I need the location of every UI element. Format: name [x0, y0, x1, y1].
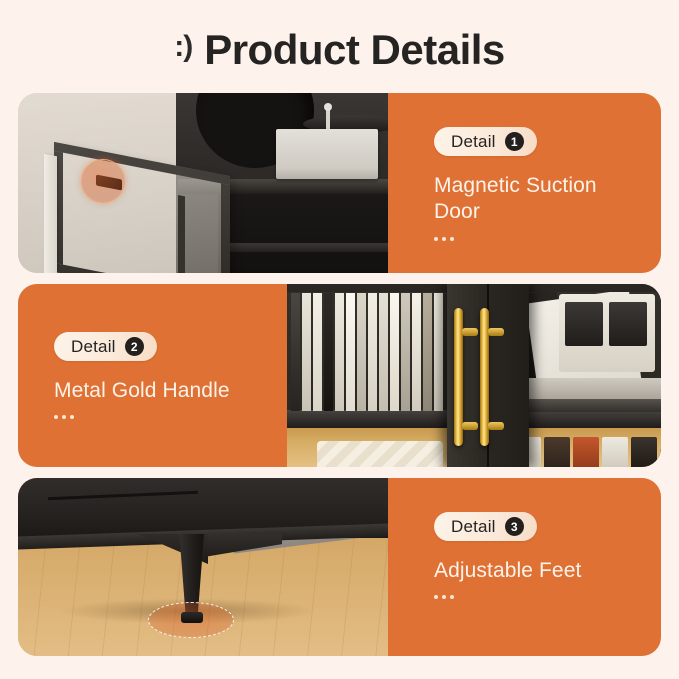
highlight-circle-icon	[81, 159, 125, 203]
handle-stub	[462, 422, 478, 430]
book-spine	[291, 293, 300, 411]
detail-photo-gold-handle	[287, 284, 661, 467]
detail-title-2: Metal Gold Handle	[54, 378, 284, 404]
detail-caption-1: Detail 1 Magnetic Suction Door ...	[388, 93, 661, 273]
detail-badge-3: Detail 3	[434, 512, 537, 541]
badge-label: Detail	[451, 518, 496, 535]
handle-stub	[488, 422, 504, 430]
dot	[434, 237, 438, 241]
books-bottom-group	[515, 437, 657, 467]
detail-list: Detail 1 Magnetic Suction Door ... Detai…	[0, 93, 679, 656]
detail-caption-3: Detail 3 Adjustable Feet ...	[388, 478, 661, 656]
book-stack-strip-dark	[525, 399, 661, 412]
door-edge	[44, 154, 57, 273]
turntable-tonearm	[326, 108, 330, 130]
detail-badge-1: Detail 1	[434, 127, 537, 156]
badge-label: Detail	[451, 133, 496, 150]
book-spine	[346, 293, 355, 411]
door-inner-frame	[178, 195, 240, 273]
more-dots-1: ...	[434, 237, 661, 241]
page-header: :) Product Details	[0, 0, 679, 93]
detail-title-3: Adjustable Feet	[434, 558, 634, 584]
book-spine	[335, 293, 344, 411]
dot	[70, 415, 74, 419]
page-title: Product Details	[204, 29, 505, 71]
detail-caption-2: Detail 2 Metal Gold Handle ...	[18, 284, 287, 467]
handle-stub	[462, 328, 478, 336]
book-stack-strip	[525, 378, 661, 400]
detail-photo-adjustable-feet	[18, 478, 388, 656]
dot	[450, 595, 454, 599]
books-right-group	[525, 292, 661, 412]
detail-photo-magnetic-door	[18, 93, 388, 273]
books-left-group	[291, 293, 443, 411]
flip-clock	[559, 294, 655, 372]
book-spine	[423, 293, 432, 411]
book-spine	[434, 293, 443, 411]
dot	[54, 415, 58, 419]
book-spine	[544, 437, 570, 467]
dot	[442, 595, 446, 599]
dot	[62, 415, 66, 419]
cabinet-inner-opening	[218, 194, 388, 273]
book-spine	[324, 293, 333, 411]
more-dots-2: ...	[54, 415, 287, 419]
book-spine	[573, 437, 599, 467]
badge-number: 3	[505, 517, 524, 536]
detail-badge-2: Detail 2	[54, 332, 157, 361]
cabinet-lower-shelf	[228, 243, 388, 252]
book-spine	[313, 293, 322, 411]
book-spine	[631, 437, 657, 467]
dot	[450, 237, 454, 241]
book-spine	[602, 437, 628, 467]
detail-title-1: Magnetic Suction Door	[434, 173, 634, 226]
more-dots-3: ...	[434, 595, 661, 599]
dot	[434, 595, 438, 599]
badge-number: 2	[125, 337, 144, 356]
turntable-base	[276, 129, 378, 179]
badge-label: Detail	[71, 338, 116, 355]
book-spine	[357, 293, 366, 411]
badge-number: 1	[505, 132, 524, 151]
detail-card-2[interactable]: Detail 2 Metal Gold Handle ...	[18, 284, 661, 467]
adjustable-foot-pad	[181, 612, 203, 623]
book-spine	[412, 293, 421, 411]
book-spine	[368, 293, 377, 411]
handle-stub	[488, 328, 504, 336]
book-spine	[302, 293, 311, 411]
detail-card-1[interactable]: Detail 1 Magnetic Suction Door ...	[18, 93, 661, 273]
book-spine	[390, 293, 399, 411]
book-spine	[401, 293, 410, 411]
dot	[442, 237, 446, 241]
cushion	[317, 441, 443, 467]
detail-card-3[interactable]: Detail 3 Adjustable Feet ...	[18, 478, 661, 656]
smiley-icon: :)	[174, 32, 192, 62]
book-spine	[379, 293, 388, 411]
